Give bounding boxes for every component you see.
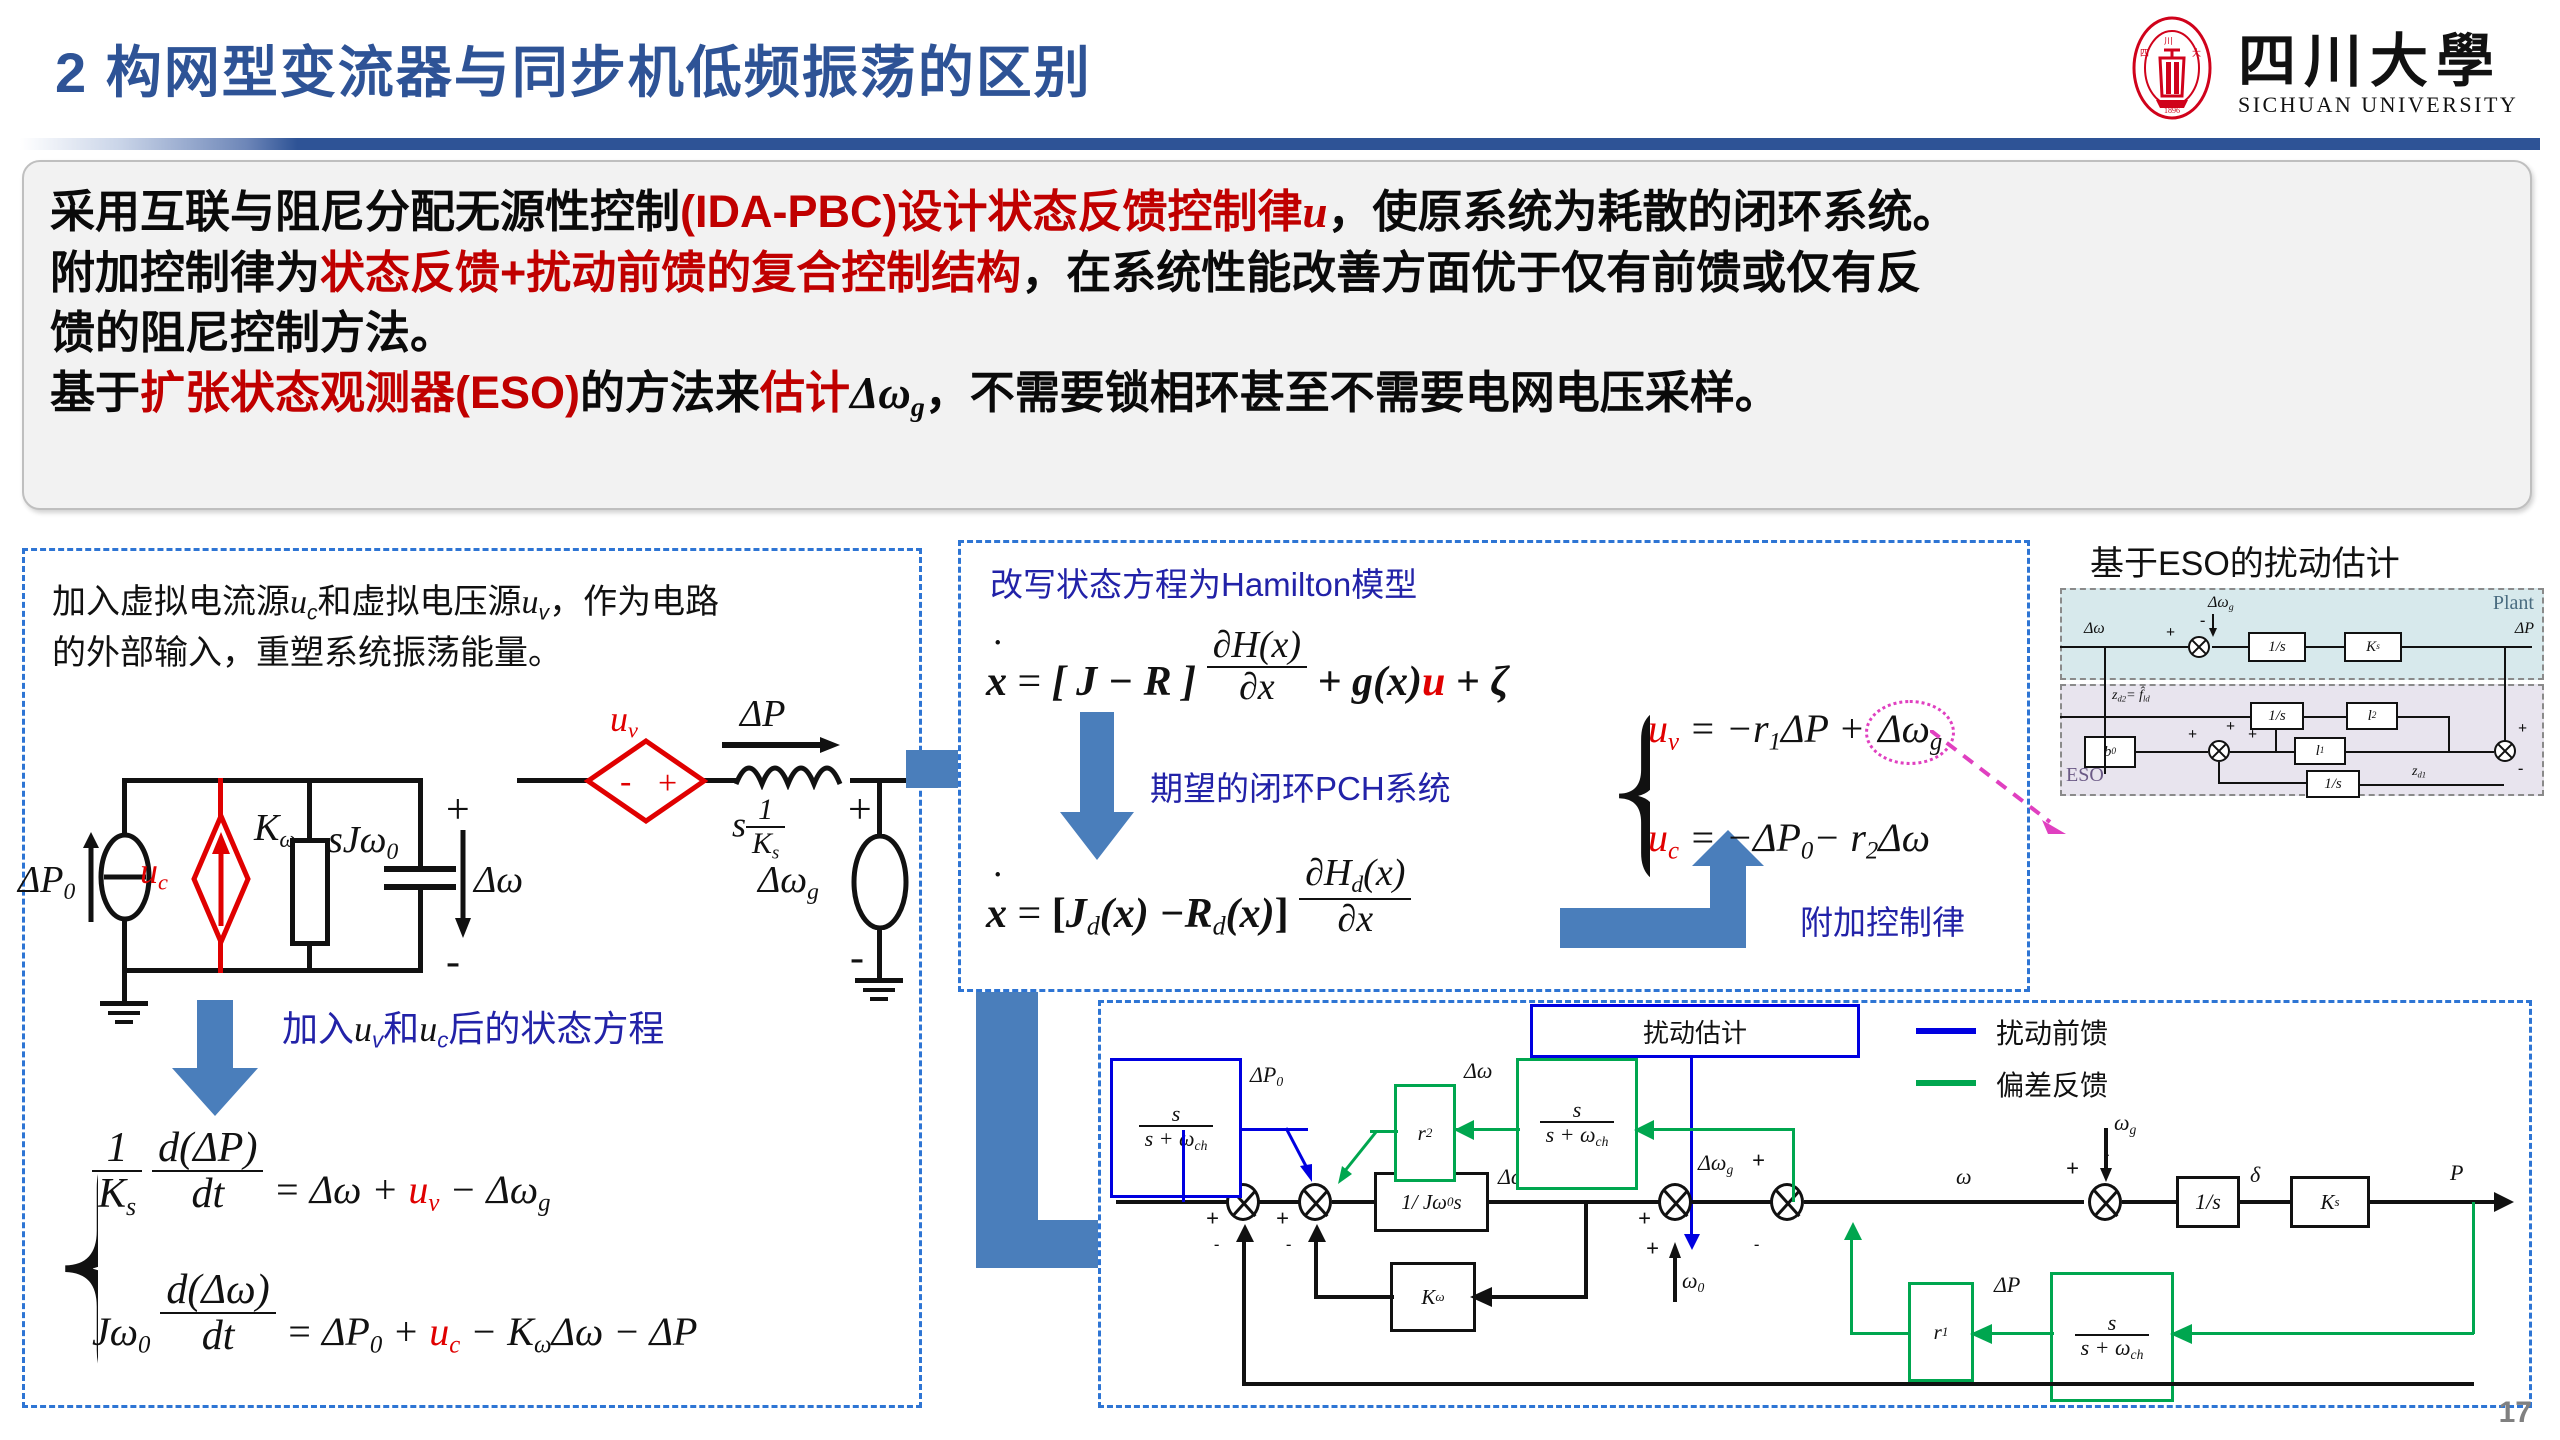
eso-block-l2: l2 [2346,702,2398,730]
circuit-minus-left: - [446,938,460,986]
control-law-uc: uc = −ΔP0− r2Δω [1648,814,1930,865]
bd-label-w: ω [1956,1164,1972,1190]
eso-plus-1: + [2166,624,2175,642]
circuit-label-uv: uv [610,698,638,744]
svg-text:1896: 1896 [2164,106,2180,115]
title-bar: 2 构网型变流器与同步机低频振荡的区别 1896 四 川 大 四川大學 SICH… [0,0,2560,140]
eso-block-integrator-2: 1/s [2250,702,2304,730]
bd-label-P: P [2450,1160,2463,1186]
slide-root: 2 构网型变流器与同步机低频振荡的区别 1896 四 川 大 四川大學 SICH… [0,0,2560,1440]
callout-l4-c: 的方法来 [580,367,760,418]
left-down-arrow-icon [170,1000,260,1118]
bd-block-washout-2: s s + ωch [1516,1058,1638,1190]
bd-r2-in-arrow-icon [1454,1118,1476,1142]
summary-callout-box: 采用互联与阻尼分配无源性控制(IDA-PBC)设计状态反馈控制律u，使原系统为耗… [22,160,2532,510]
intro-uv: u [522,584,539,621]
inductor-icon [734,754,854,790]
left-panel-intro: 加入虚拟电流源uc和虚拟电压源uv，作为电路 的外部输入，重塑系统振荡能量。 [52,578,902,678]
sichuan-university-seal-icon: 1896 四 川 大 [2120,16,2224,120]
logo-english-name: SICHUAN UNIVERSITY [2238,92,2518,118]
bd-label-dwg: Δωg [1698,1150,1733,1178]
legend-label-feedforward: 扰动前馈 [1996,1012,2108,1052]
bd-label-delta: δ [2250,1162,2260,1188]
intro-line2: 的外部输入，重塑系统振荡能量。 [52,634,562,672]
svg-text:大: 大 [2192,47,2201,58]
bd-block-r1: r1 [1908,1282,1974,1382]
legend-swatch-feedforward [1916,1028,1976,1034]
dwg-arrow-icon [1682,1228,1702,1252]
eso-minus-2: - [2518,760,2523,778]
eso-zd2-label: zd2= f̂ld [2112,688,2150,704]
bd-kw-in-arrow-icon [1470,1285,1494,1309]
bd-sum2-in-arrow-icon [1306,1224,1328,1246]
bd-sign-8: - [1754,1236,1759,1254]
eso-plus-3: + [2188,726,2197,744]
bd-outer-loop-arrow-icon [1234,1224,1256,1246]
bd-sum-4 [1770,1183,1804,1221]
eso-minus-1: - [2200,612,2205,630]
uv-voltage-source-icon: - + [584,738,708,824]
circuit-label-Kw: Kω [254,806,296,854]
bd-dp0-arrow-icon [1284,1126,1320,1188]
eso-plant-summing-junction [2188,636,2210,658]
eso-plus-5: + [2248,726,2257,744]
bd-label-wg: ωg [2114,1110,2136,1138]
bd-sign-5: + [1638,1206,1651,1232]
callout-l2-b: 状态反馈+扰动前馈的复合控制结构 [320,247,1021,298]
intro-uc-sub: c [307,601,318,624]
bd-sign-9: + [2066,1156,2079,1182]
circuit-plus-right: + [848,786,872,834]
delta-p0-arrow-icon [80,830,102,926]
bd-washout3-in-arrow-icon [2170,1322,2194,1346]
eso-disturbance-arrow-icon [2207,614,2219,638]
bd-sign-3: + [1276,1206,1289,1232]
mid-panel-heading: 改写状态方程为Hamilton模型 [990,558,1417,606]
bd-label-dP0: ΔP0 [1250,1062,1283,1090]
bd-sign-6: + [1646,1236,1659,1262]
svg-text:-: - [620,763,631,800]
eso-observer-summing-junction-center [2208,740,2230,762]
callout-l4-a: 基于 [50,367,140,418]
circuit-label-dP0: ΔP0 [18,858,75,906]
equivalent-circuit-diagram: ΔP0 uc Kω sJω0 + - [22,690,922,990]
eso-block-l1: l1 [2294,737,2346,765]
left-arrow-caption: 加入uv和uc后的状态方程 [282,1000,664,1054]
control-law-caption: 附加控制律 [1800,896,1965,944]
control-law-brace: { [1600,686,1650,886]
bd-block-kw: Kω [1390,1262,1476,1332]
bd-block-ks: Ks [2290,1176,2370,1228]
intro-uc: u [290,584,307,621]
eso-zd1-label: zd1 [2412,764,2426,780]
bd-label-dP: ΔP [1994,1272,2020,1298]
control-law-uv: uv = −r1ΔP + Δωg [1648,700,1955,765]
bd-output-arrow-icon [2490,1190,2516,1214]
bd-sum-5 [2088,1183,2122,1221]
eso-panel-title: 基于ESO的扰动估计 [2090,536,2400,585]
bottom-block-diagram: 扰动估计 Δωg 扰动前馈 偏差反馈 P0 + - + - 1/ Jω0s Δω [1098,1000,2532,1408]
callout-line-2: 附加控制律为状态反馈+扰动前馈的复合控制结构，在系统性能改善方面优于仅有前馈或仅… [50,243,2504,303]
bd-block-washout-1: s s + ωch [1110,1058,1242,1198]
svg-text:+: + [658,765,677,802]
logo-chinese-name: 四川大學 [2238,14,2502,98]
bd-sum4-in-arrow-icon [1842,1222,1864,1244]
delta-omega-arrow-icon [452,830,474,940]
callout-l1-a: 采用互联与阻尼分配无源性控制 [50,186,680,237]
power-flow-arrow-icon [722,734,842,756]
state-equation-2: Jω0 d(Δω) dt = ΔP0 + uc − KωΔω − ΔP [92,1268,697,1360]
callout-l4-g: ，不需要锁相环甚至不需要电网电压采样。 [925,367,1780,418]
eso-disturbance-label: Δωg [2208,594,2234,613]
eso-block-b0: b0 [2084,736,2136,768]
state-equations-brace: { [38,1110,98,1390]
resistor-kw-icon [290,838,330,946]
intro-text-a: 加入虚拟电流源 [52,583,290,621]
bd-label-dw2: Δω [1464,1058,1492,1084]
eso-block-integrator-1: 1/s [2248,632,2306,662]
callout-l4-domega: Δω [850,368,911,418]
bd-block-r2: r2 [1394,1084,1456,1182]
eso-block-diagram: Plant ESO Δω + - Δωg 1/s Ks ΔP zd2= f̂ld… [2060,588,2544,796]
legend-swatch-feedback [1916,1080,1976,1086]
eso-plus-4: + [2226,718,2235,736]
mid-down-arrow-icon [1058,712,1138,862]
circle-to-eso-arrow-icon [1930,730,2080,850]
university-logo: 1896 四 川 大 四川大學 SICHUAN UNIVERSITY [2120,8,2540,128]
eso-output-dp: ΔP [2515,620,2534,638]
bd-sign-2: - [1214,1236,1219,1254]
pch-caption: 期望的闭环PCH系统 [1150,762,1451,810]
callout-l4-d: 估计 [760,367,850,418]
circuit-label-sJw0: sJω0 [328,818,398,866]
callout-line-4: 基于扩张状态观测器(ESO)的方法来估计Δωg，不需要锁相环甚至不需要电网电压采… [50,363,2504,426]
eso-plant-label: Plant [2493,592,2534,615]
callout-l1-idapbc: (IDA-PBC) [680,186,897,237]
bd-washout2-in-arrow-icon [1634,1118,1656,1142]
bd-wg-arrow-icon [2098,1128,2114,1184]
intro-text-b: 和虚拟电压源 [318,583,522,621]
hamilton-equation-closed-loop: ˙ x = [Jd(x) −Rd(x)] ∂Hd(x) ∂x [986,854,1411,942]
svg-text:川: 川 [2164,36,2173,46]
bd-label-w0: ω0 [1682,1268,1704,1296]
callout-l2-a: 附加控制律为 [50,247,320,298]
circuit-minus-right: - [850,934,864,982]
callout-l1-c: 设计状态反馈控制律 [897,186,1302,237]
eso-block-ks: Ks [2344,632,2402,662]
eso-observer-summing-junction-right [2494,740,2516,762]
callout-l2-c: ，在系统性能改善方面优于仅有前馈或仅有反 [1021,247,1921,298]
callout-line-3: 馈的阻尼控制方法。 [50,303,2504,363]
circuit-label-dP: ΔP [740,692,786,736]
circuit-label-domega-g: Δωg [758,858,819,906]
hamilton-equation-open-loop: ˙ x = [ J − R ] ∂H(x) ∂x + g(x)u + ζ [986,626,1509,708]
intro-uv-sub: v [539,601,550,624]
bd-r1-in-arrow-icon [1970,1322,1994,1346]
circuit-label-uc: uc [140,850,168,896]
bd-sum-3 [1658,1183,1692,1221]
circuit-label-inductance: s 1 Ks [732,794,785,863]
callout-line-1: 采用互联与阻尼分配无源性控制(IDA-PBC)设计状态反馈控制律u，使原系统为耗… [50,182,2504,243]
disturbance-estimation-box: 扰动估计 [1530,1004,1860,1058]
eso-input-dw: Δω [2084,620,2105,638]
bd-block-integrator: 1/s [2176,1176,2240,1228]
legend-label-feedback: 偏差反馈 [1996,1064,2108,1104]
page-number: 17 [2499,1396,2532,1430]
callout-l1-d: ，使原系统为耗散的闭环系统。 [1328,186,1958,237]
bd-sign-7: + [1752,1148,1765,1174]
bd-r2-out-arrow-icon [1322,1128,1378,1190]
callout-l4-eso: 扩张状态观测器(ESO) [140,367,580,418]
circuit-plus-left: + [446,786,470,834]
callout-l4-domega-sub: g [911,391,925,422]
eso-block-integrator-3: 1/s [2306,770,2360,798]
bd-sign-1: + [1206,1206,1219,1232]
uc-controlled-source-icon [188,814,254,944]
page-title: 2 构网型变流器与同步机低频振荡的区别 [55,28,1092,109]
circuit-label-domega: Δω [474,858,523,902]
state-equation-1: 1 Ks d(ΔP) dt = Δω + uv − Δωg [92,1126,551,1220]
svg-text:四: 四 [2140,48,2149,58]
bd-sign-4: - [1286,1236,1291,1254]
intro-text-c: ，作为电路 [549,583,719,621]
eso-plus-2: + [2518,720,2527,738]
callout-l1-u: u [1303,187,1328,237]
title-divider [20,138,2540,150]
delta-omega-g-source-icon [851,834,909,930]
